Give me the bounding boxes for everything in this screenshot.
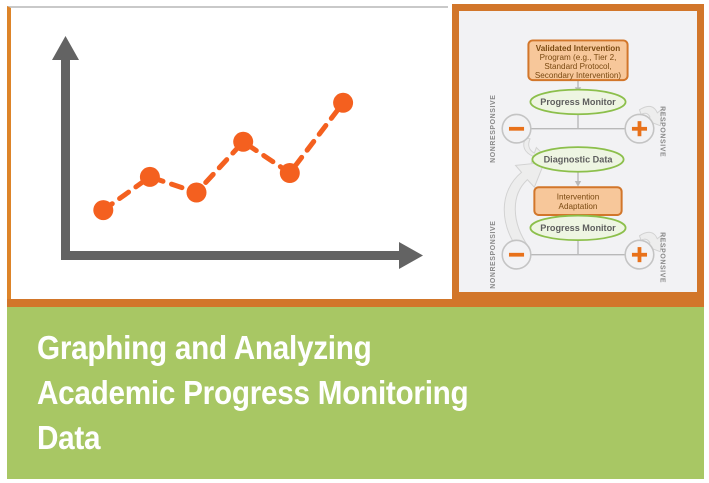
data-point-2 xyxy=(140,167,160,187)
node-validated-intervention[interactable]: Validated Intervention Program (e.g., Ti… xyxy=(528,40,627,80)
node-intervention-adaptation-line-1: Intervention xyxy=(557,192,599,201)
data-point-1 xyxy=(93,200,113,220)
node-validated-intervention-line-1: Validated Intervention xyxy=(536,44,620,53)
node-nonresponsive-1[interactable]: NONRESPONSIVE xyxy=(490,95,531,163)
minus-icon xyxy=(509,253,524,257)
title-band: Graphing and Analyzing Academic Progress… xyxy=(7,307,704,479)
minus-icon xyxy=(509,127,524,131)
label-nonresponsive-1: NONRESPONSIVE xyxy=(490,95,497,163)
node-intervention-adaptation-line-2: Adaptation xyxy=(559,202,598,211)
node-responsive-1[interactable]: RESPONSIVE xyxy=(625,106,665,157)
node-diagnostic-data-label: Diagnostic Data xyxy=(544,155,614,165)
y-axis xyxy=(52,36,79,260)
slide-root: Validated Intervention Program (e.g., Ti… xyxy=(0,0,709,483)
x-axis xyxy=(61,242,423,269)
rti-flow-diagram: Validated Intervention Program (e.g., Ti… xyxy=(459,11,697,292)
page-title: Graphing and Analyzing Academic Progress… xyxy=(37,325,614,460)
line-chart-panel xyxy=(7,6,448,299)
node-diagnostic-data[interactable]: Diagnostic Data xyxy=(532,147,623,172)
rti-diagram-panel: Validated Intervention Program (e.g., Ti… xyxy=(452,4,704,299)
node-progress-monitor-2[interactable]: Progress Monitor xyxy=(530,216,625,241)
data-point-3 xyxy=(187,183,207,203)
top-content-row: Validated Intervention Program (e.g., Ti… xyxy=(0,0,709,301)
data-point-6 xyxy=(333,93,353,113)
data-point-4 xyxy=(233,132,253,152)
node-validated-intervention-line-2: Program (e.g., Tier 2, xyxy=(540,53,617,62)
data-point-5 xyxy=(280,163,300,183)
label-nonresponsive-2: NONRESPONSIVE xyxy=(490,221,497,289)
node-progress-monitor-1-label: Progress Monitor xyxy=(540,97,616,107)
node-intervention-adaptation[interactable]: Intervention Adaptation xyxy=(534,187,621,215)
data-series-line xyxy=(103,103,343,210)
progress-line-chart xyxy=(11,8,448,299)
node-validated-intervention-line-4: Secondary Intervention) xyxy=(535,71,622,80)
node-progress-monitor-1[interactable]: Progress Monitor xyxy=(530,90,625,115)
node-progress-monitor-2-label: Progress Monitor xyxy=(540,223,616,233)
node-validated-intervention-line-3: Standard Protocol, xyxy=(544,62,611,71)
data-point-group xyxy=(93,93,353,220)
label-responsive-1: RESPONSIVE xyxy=(658,106,665,157)
label-responsive-2: RESPONSIVE xyxy=(658,232,665,283)
node-responsive-2[interactable]: RESPONSIVE xyxy=(625,232,665,283)
